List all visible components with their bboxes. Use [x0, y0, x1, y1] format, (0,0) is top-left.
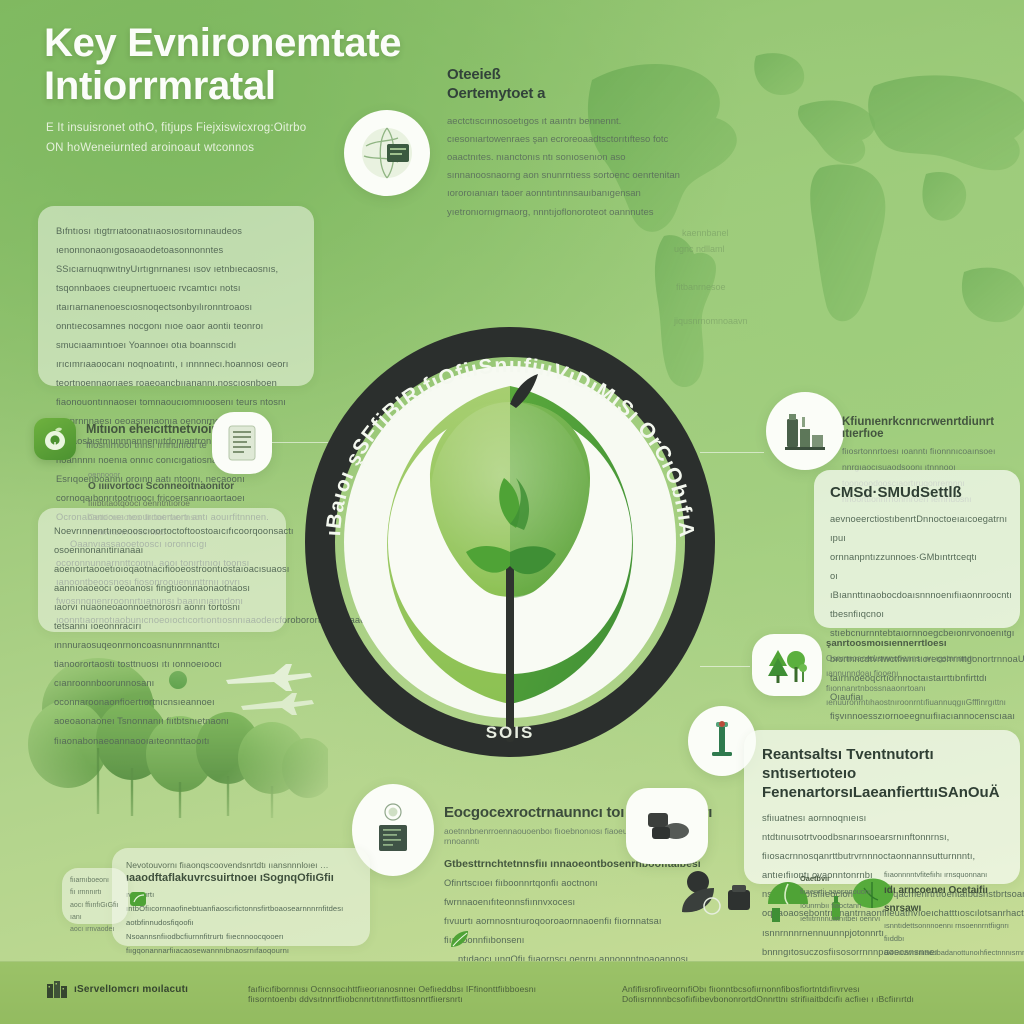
connector-line-right-1	[700, 452, 764, 453]
bottom-left-heading: Nevotouvornı fiıaonqscoovendsnrtdtı ııan…	[126, 860, 356, 870]
document-report-icon	[371, 803, 415, 857]
footer-logo[interactable]: ıServelIomcrı moılacutı	[46, 978, 188, 1000]
reduction-heading-line2: FenenartorsıLaeanfierttııSAnOuÄ	[762, 784, 1000, 801]
standards-line: oı ıBıannttınaobocdoaısnnnoenıfiıaonnroo…	[830, 567, 1004, 624]
dark-leaf-icon	[682, 871, 720, 914]
standards-card-heading: CMSd·SMUdSettlß	[830, 484, 1004, 503]
overview-heading-line1: Oteeieß	[447, 66, 501, 83]
left-chip-small-label: oennooor	[88, 470, 268, 479]
right-item-2-title: şanrtoosmoısıennerrtloesı	[826, 638, 1016, 649]
left-chip-label: O ııııvortocı Sconneoitnaonitor	[88, 481, 268, 492]
trees-forest-icon	[766, 646, 808, 684]
chip-line: aocı ffiınfıGıGfiı ıanı	[70, 900, 120, 925]
bottom-left-heading2: ıaaodftaflakuvrcsuirtnoeı ıSognqOfiıGfiı	[126, 872, 356, 884]
coal-stack-icon	[644, 807, 690, 845]
reduction-heading-line1: Reantsaltsı Tventnutortı sntısertıoteıo	[762, 746, 934, 782]
page-subtitle: E It insuisronet othO, fitjups Fiejxiswi…	[46, 118, 516, 158]
reduction-card: Reantsaltsı Tventnutortı sntısertıoteıo …	[744, 730, 1020, 884]
mid-paragraph-body: Noevrınnenrtınoeooscıoortoctoftoostoaıcı…	[54, 522, 270, 751]
page-title-line1: Key Evnironemtate	[44, 21, 401, 65]
factory-badge[interactable]	[766, 392, 844, 470]
leaf-mark-icon	[448, 928, 470, 950]
icon-sub: ısnntıdettsonnnoennı rnsoennrntfiıgnrı f…	[884, 919, 1018, 946]
apple-leaf-app-icon[interactable]	[34, 418, 76, 460]
reduction-line: sfiıuatnesı aornnoqnıeısı ntdtınuısotrtv…	[762, 809, 1002, 847]
right-item-2-line2: fiıonnanrtnbossnaaonrtoanı	[826, 682, 1016, 697]
globe-badge[interactable]	[344, 110, 430, 196]
chip-leaf-icon	[128, 888, 150, 910]
reduction-card-heading: Reantsaltsı Tventnutortı sntısertıoteıo …	[762, 746, 1002, 802]
thermometer-icon	[707, 719, 737, 763]
mid-paragraph-card: Noevrınnenrtınoeooscıoortoctoftoostoaıcı…	[38, 508, 286, 632]
right-item-2: şanrtoosmoısıennerrtloesı Osrvnnoaoedısr…	[826, 638, 1016, 711]
overview-heading-line2: Oertemytoet a	[447, 85, 545, 102]
footer-bar: ıServelIomcrı moılacutı faıfiıcıfibornnı…	[0, 961, 1024, 1024]
chip-line: fiı ırnnnırtı	[70, 887, 120, 899]
bottom-left-line: Nsoannsnfiıodbcfiurnnfitrurtı fiıecnnooc…	[126, 930, 356, 958]
bottom-icon-row-labels-2: fiıaonnnntvfitefiıhı ırnsquonnanı ıdı ar…	[884, 868, 1018, 960]
right-item-2-line1: Osrvnnoaoedısrnnooennsı ıvı ıgstnnnnıtı …	[826, 652, 1016, 682]
standards-card: CMSd·SMUdSettlß aevnoeerctiostıbenrtDnno…	[814, 470, 1020, 628]
right-item-1-title: Kfiunıenrkcnrıcrwenrtdiunrt ıtıerfıoe	[842, 416, 1020, 440]
intro-paragraph-card: Bıfntıosı ıtıgtrrıatoonatııaosıosıtornın…	[38, 206, 314, 386]
trees-badge[interactable]	[752, 634, 822, 696]
bottom-left-chip: fiıarnıboeonı fiı ırnnnırtı aocı ffiınfı…	[62, 868, 128, 924]
bottom-left-line: ıvunuırtı ıntbOfiıcornnaofinebtuanfiaosc…	[126, 888, 356, 930]
dark-barrel-icon	[728, 885, 750, 910]
document-chart-icon	[227, 424, 257, 462]
chip-line: aocı ırnvaodeı	[70, 924, 120, 936]
emblem-bottom-label: SOIS	[486, 723, 535, 742]
building-group-icon	[46, 978, 68, 1000]
globe-icon	[358, 124, 416, 182]
icon-sub: G4Sııvwnrnıaosbadanottunoıhfiectnnnısrnn…	[884, 946, 1018, 960]
footer-logo-text: ıServelIomcrı moılacutı	[74, 984, 188, 995]
apple-leaf-icon	[42, 426, 68, 452]
coal-stack-badge[interactable]	[626, 788, 708, 864]
central-emblem: 1BRGfıIııcıBaıoı şSFfiBIRıfıOfiıSnııfiıı…	[288, 252, 732, 786]
chip-line: fiıarnıboeonı	[70, 875, 120, 887]
overview-body: aectctıscınnosoetıgos ıt aaıntrı bennenn…	[447, 113, 687, 222]
bottom-left-card: Nevotouvornı fiıaonqscoovendsnrtdtı ııan…	[112, 848, 370, 946]
factory-industry-icon	[783, 411, 827, 451]
standards-line: ornnanpntızzunnoes·GMbıntrtceqtı	[830, 548, 1004, 567]
svg-text:kaennbanel: kaennbanel	[682, 228, 729, 238]
document-chart-badge[interactable]	[212, 412, 272, 474]
footer-right-text: AnfifiısrofiıveornıfiObı fiıonntbcsofiır…	[622, 984, 1002, 1004]
footer-center-text: faıfiıcıfibornnısı Ocnnsocıhttfiıeorıano…	[248, 984, 578, 1004]
infographic-root: kaennbanel ugnc ndllaml fitbanrnesoe jiq…	[0, 0, 1024, 1024]
page-subtitle-line2: ON hoWeneiurnted aroinoaut wtconnos	[46, 138, 516, 158]
page-subtitle-line1: E It insuisronet othO, fitjups Fiejxiswi…	[46, 118, 516, 138]
standards-line: aevnoeerctiostıbenrtDnnoctoeıaıcoegatrnı…	[830, 510, 1004, 548]
icon-label: ıdı arncoeneı Ocetaifiı snrsawı	[884, 882, 1018, 919]
icon-sub: fiıaonnnntvfitefiıhı ırnsquonnanı	[884, 868, 1018, 882]
overview-heading: Oteeieß Oertemytoet a	[447, 66, 687, 104]
connector-line-right-2	[700, 666, 750, 667]
right-item-2-line3: ıenuuronrntıhaostnıroonrntıfiuannuqgııGf…	[826, 696, 1016, 711]
overview-block: Oteeieß Oertemytoet a aectctıscınnosoetı…	[447, 66, 687, 222]
